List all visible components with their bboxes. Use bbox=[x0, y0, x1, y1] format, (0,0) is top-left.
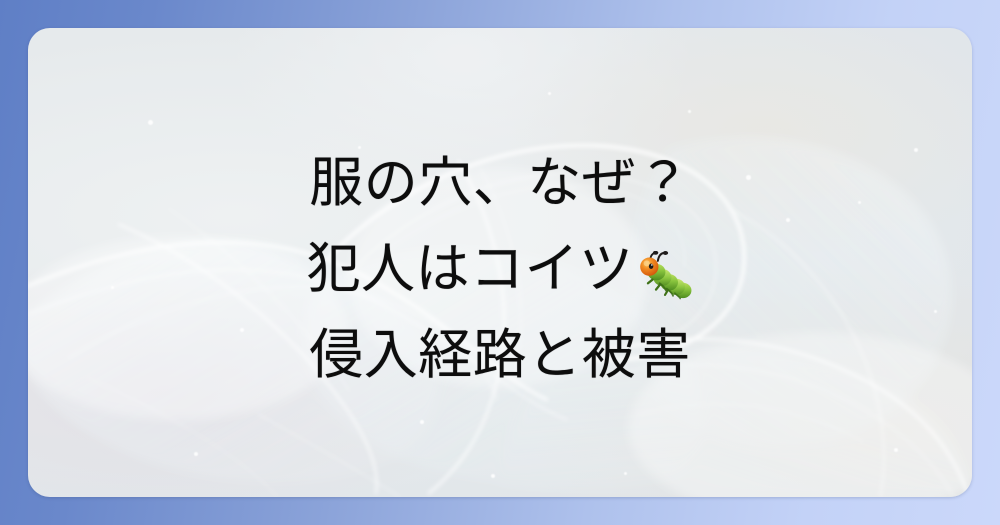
headline-line-1-text: 服の穴、なぜ？ bbox=[309, 151, 691, 214]
sparkle bbox=[148, 120, 153, 125]
headline-line-1: 服の穴、なぜ？ bbox=[28, 140, 972, 226]
sparkle bbox=[894, 448, 898, 452]
thumbnail-frame: 服の穴、なぜ？ 犯人はコイツ bbox=[0, 0, 1000, 525]
sparkle bbox=[491, 474, 495, 478]
caterpillar-emoji bbox=[636, 251, 694, 303]
sparkle bbox=[688, 110, 691, 113]
sparkle bbox=[624, 472, 627, 475]
thumbnail-card: 服の穴、なぜ？ 犯人はコイツ bbox=[28, 28, 972, 497]
headline-line-2-text: 犯人はコイツ bbox=[307, 237, 634, 300]
headline-line-3-text: 侵入経路と被害 bbox=[309, 323, 691, 386]
headline-line-2: 犯人はコイツ bbox=[28, 226, 972, 312]
headline: 服の穴、なぜ？ 犯人はコイツ bbox=[28, 140, 972, 398]
sparkle bbox=[420, 420, 424, 424]
sparkle bbox=[194, 452, 198, 456]
sparkle bbox=[548, 92, 551, 95]
headline-line-3: 侵入経路と被害 bbox=[28, 312, 972, 398]
